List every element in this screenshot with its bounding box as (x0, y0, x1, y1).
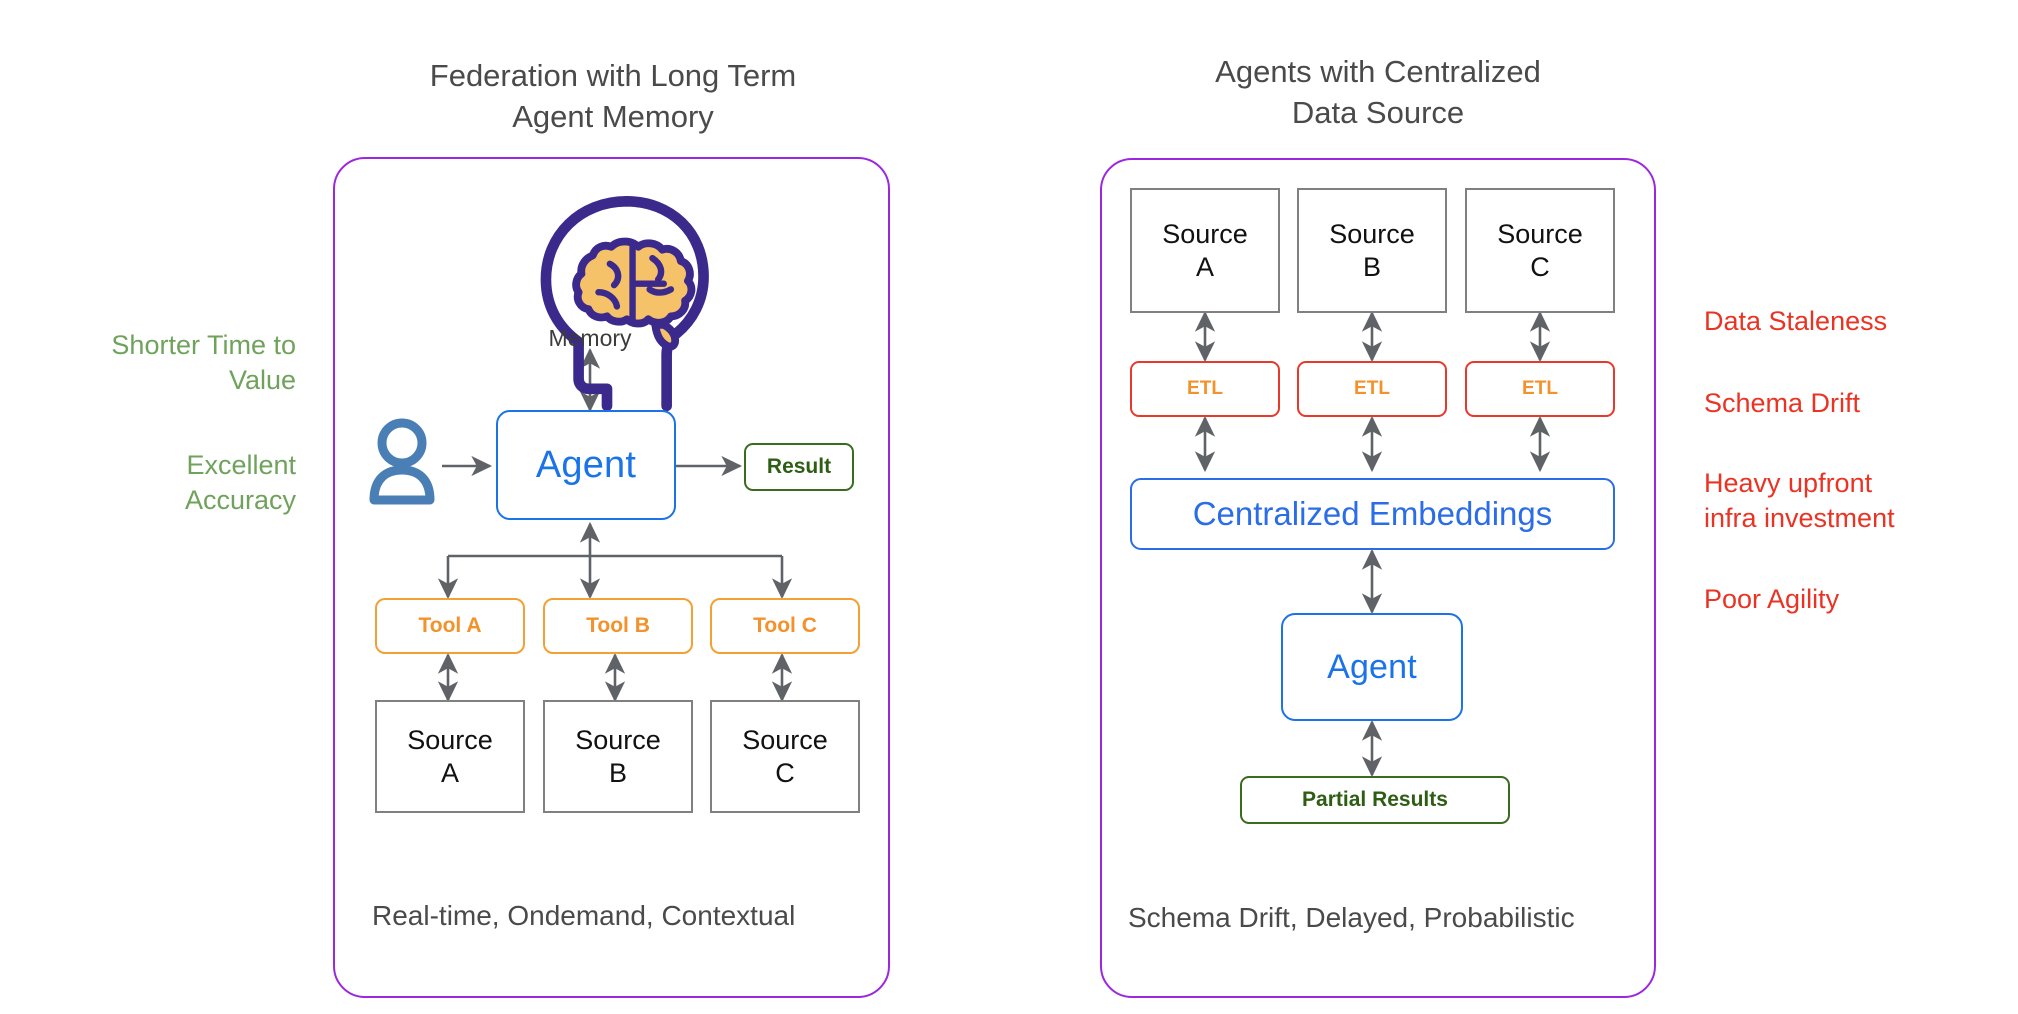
benefit-shorter-time-to-value: Shorter Time to Value (30, 328, 296, 398)
agent-box-federation[interactable]: Agent (496, 410, 676, 520)
source-box-c-centralized: Source C (1465, 188, 1615, 313)
agent-box-centralized[interactable]: Agent (1281, 613, 1463, 721)
tool-box-b[interactable]: Tool B (543, 598, 693, 654)
etl-box-c[interactable]: ETL (1465, 361, 1615, 417)
source-box-b-federation: Source B (543, 700, 693, 813)
memory-label: Memory (510, 325, 670, 352)
panel-title-federation: Federation with Long Term Agent Memory (333, 55, 893, 137)
source-box-a-federation: Source A (375, 700, 525, 813)
result-box[interactable]: Result (744, 443, 854, 491)
source-box-c-federation: Source C (710, 700, 860, 813)
diagram-canvas: Federation with Long Term Agent Memory M… (0, 0, 2018, 1014)
caption-centralized: Schema Drift, Delayed, Probabilistic (1128, 902, 1575, 934)
etl-box-b[interactable]: ETL (1297, 361, 1447, 417)
source-box-b-centralized: Source B (1297, 188, 1447, 313)
centralized-embeddings-box[interactable]: Centralized Embeddings (1130, 478, 1615, 550)
caption-federation: Real-time, Ondemand, Contextual (372, 900, 795, 932)
tool-box-c[interactable]: Tool C (710, 598, 860, 654)
panel-title-centralized: Agents with Centralized Data Source (1100, 51, 1656, 133)
drawback-heavy-upfront-infra: Heavy upfront infra investment (1704, 466, 1994, 536)
drawback-poor-agility: Poor Agility (1704, 582, 1994, 617)
source-box-a-centralized: Source A (1130, 188, 1280, 313)
tool-box-a[interactable]: Tool A (375, 598, 525, 654)
drawback-schema-drift: Schema Drift (1704, 386, 1994, 421)
etl-box-a[interactable]: ETL (1130, 361, 1280, 417)
benefit-excellent-accuracy: Excellent Accuracy (30, 448, 296, 518)
drawback-data-staleness: Data Staleness (1704, 304, 1994, 339)
panel-federation (333, 157, 890, 998)
partial-results-box[interactable]: Partial Results (1240, 776, 1510, 824)
